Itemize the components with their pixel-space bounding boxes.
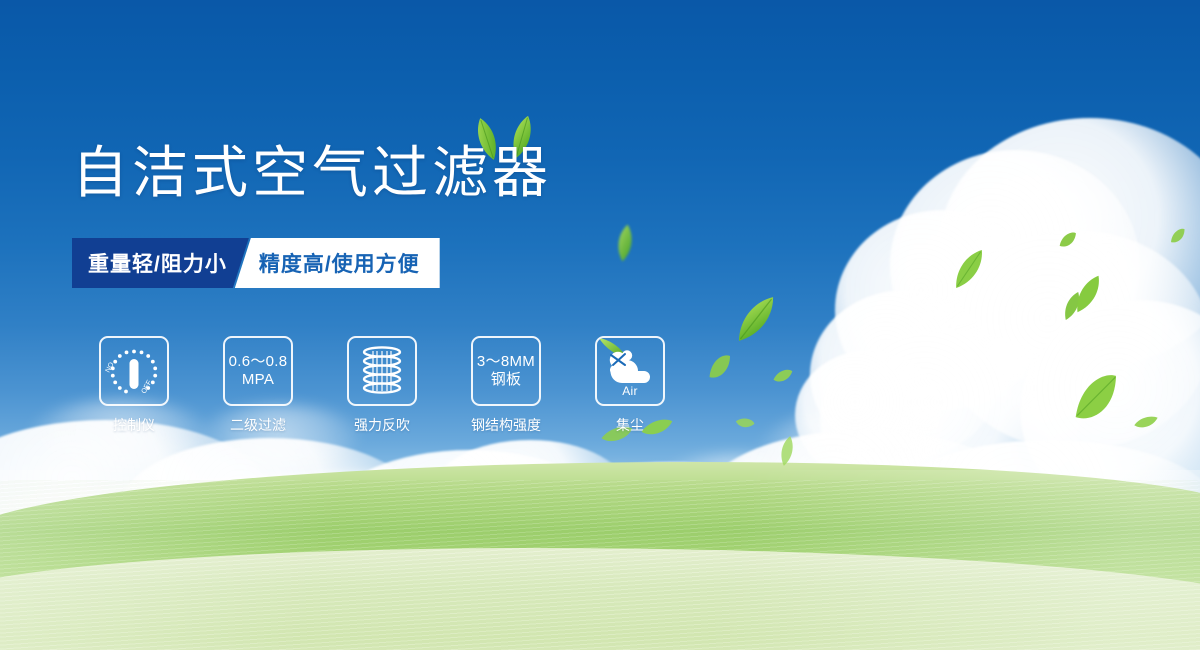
feature-label: 强力反吹 xyxy=(354,415,410,435)
feature-item-pressure[interactable]: 0.6～0.8 MPA 二级过滤 xyxy=(196,336,320,435)
feature-item-blowback[interactable]: 强力反吹 xyxy=(320,336,444,435)
product-hero-banner: 自洁式空气过滤器 重量轻/阻力小 精度高/使用方便 xyxy=(0,0,1200,650)
feature-item-steel[interactable]: 3～8MM 钢板 钢结构强度 xyxy=(444,336,568,435)
feature-label: 钢结构强度 xyxy=(471,415,541,435)
pleated-filter-icon xyxy=(347,336,417,406)
subtitle-left-block: 重量轻/阻力小 xyxy=(72,238,249,288)
subtitle-bar: 重量轻/阻力小 精度高/使用方便 xyxy=(72,238,440,288)
control-dial-icon: NO OFF xyxy=(99,336,169,406)
feature-list: NO OFF 控制仪 0.6～0.8 MPA 二级过滤 xyxy=(72,336,692,435)
air-cloud-icon: Air xyxy=(595,336,665,406)
feature-box-text: 3～8MM 钢板 xyxy=(477,353,535,388)
feature-box-text: Air xyxy=(597,384,663,398)
subtitle-right-block: 精度高/使用方便 xyxy=(235,238,440,288)
page-title: 自洁式空气过滤器 xyxy=(72,145,552,201)
steel-plate-text-icon: 3～8MM 钢板 xyxy=(471,336,541,406)
feature-box-text: 0.6～0.8 MPA xyxy=(229,353,288,388)
feature-label: 二级过滤 xyxy=(230,415,286,435)
feature-label: 集尘 xyxy=(616,415,644,435)
feature-item-control[interactable]: NO OFF 控制仪 xyxy=(72,336,196,435)
banner-content: 自洁式空气过滤器 重量轻/阻力小 精度高/使用方便 xyxy=(0,0,1200,650)
feature-item-dustcollect[interactable]: Air 集尘 xyxy=(568,336,692,435)
svg-text:OFF: OFF xyxy=(141,379,154,395)
feature-label: 控制仪 xyxy=(113,415,155,435)
pressure-text-icon: 0.6～0.8 MPA xyxy=(223,336,293,406)
